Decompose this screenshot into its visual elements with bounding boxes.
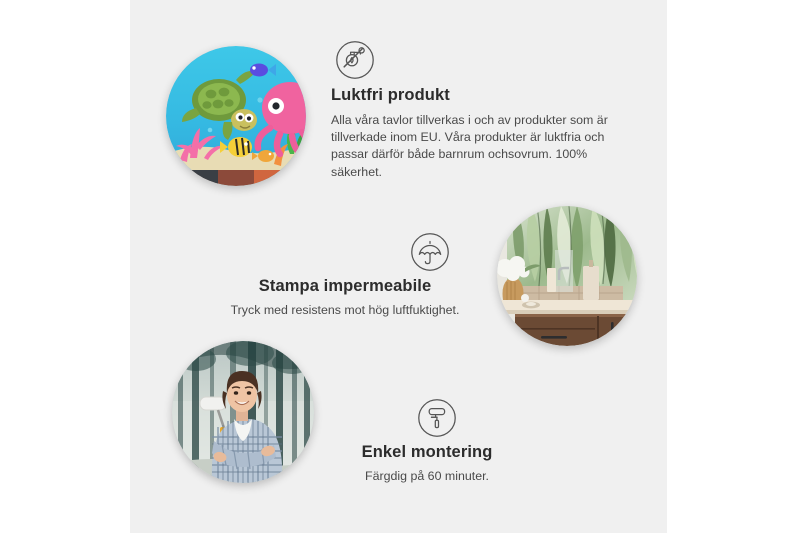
photo-bathroom — [497, 206, 637, 346]
feature-body: Tryck med resistens mot hög luftfuktighe… — [200, 302, 490, 319]
feature-title: Stampa impermeabile — [200, 277, 490, 296]
feature-title: Luktfri produkt — [331, 86, 621, 105]
feature-odourless: Luktfri produkt Alla våra tavlor tillver… — [331, 40, 621, 181]
no-odour-spray-bottle-icon — [335, 40, 375, 80]
feature-infographic: Luktfri produkt Alla våra tavlor tillver… — [0, 0, 800, 533]
feature-easy: Enkel montering Färgdig på 60 minuter. — [282, 398, 572, 485]
paint-roller-icon — [417, 398, 457, 438]
umbrella-icon — [410, 232, 450, 272]
feature-body: Färgdig på 60 minuter. — [282, 468, 572, 485]
feature-title: Enkel montering — [282, 443, 572, 462]
photo-underwater — [166, 46, 306, 186]
feature-body: Alla våra tavlor tillverkas i och av pro… — [331, 112, 617, 181]
feature-waterproof: Stampa impermeabile Tryck med resistens … — [200, 232, 490, 319]
